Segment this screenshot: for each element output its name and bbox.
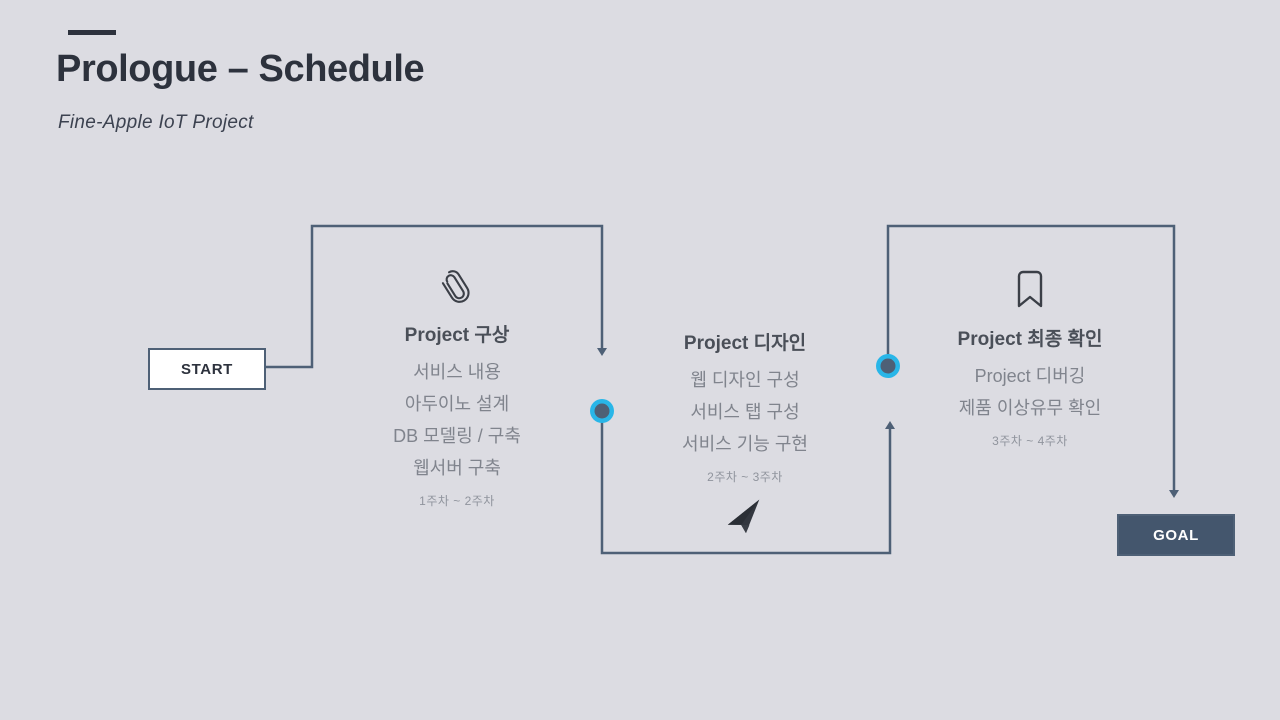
- stage-card-3[interactable]: Project 최종 확인 Project 디버깅 제품 이상유무 확인 3주차…: [900, 266, 1160, 449]
- goal-badge[interactable]: GOAL: [1117, 514, 1235, 556]
- stage-item: 서비스 내용: [327, 356, 587, 388]
- bookmark-icon: [900, 266, 1160, 312]
- stage-card-1[interactable]: Project 구상 서비스 내용 아두이노 설계 DB 모델링 / 구축 웹서…: [327, 262, 587, 509]
- stage-period: 3주차 ~ 4주차: [900, 432, 1160, 449]
- stage-title: Project 디자인: [615, 328, 875, 355]
- stage-item: 웹 디자인 구성: [615, 364, 875, 396]
- stage-card-2[interactable]: Project 디자인 웹 디자인 구성 서비스 탭 구성 서비스 기능 구현 …: [615, 328, 875, 539]
- milestone-dot-1: [590, 399, 614, 423]
- stage-title: Project 구상: [327, 320, 587, 347]
- stage-item: DB 모델링 / 구축: [327, 420, 587, 452]
- stage-title: Project 최종 확인: [900, 324, 1160, 351]
- stage-item: 아두이노 설계: [327, 388, 587, 420]
- stage-item: 제품 이상유무 확인: [900, 392, 1160, 424]
- start-badge-label: START: [181, 361, 233, 378]
- paper-plane-icon: [615, 499, 875, 539]
- stage-item: 웹서버 구축: [327, 452, 587, 484]
- goal-badge-label: GOAL: [1153, 527, 1199, 544]
- start-badge[interactable]: START: [148, 348, 266, 390]
- stage-period: 2주차 ~ 3주차: [615, 468, 875, 485]
- stage-item: 서비스 탭 구성: [615, 396, 875, 428]
- stage-item: Project 디버깅: [900, 360, 1160, 392]
- milestone-dot-2: [876, 354, 900, 378]
- stage-item: 서비스 기능 구현: [615, 428, 875, 460]
- slide-canvas: Prologue – Schedule Fine-Apple IoT Proje…: [0, 0, 1280, 720]
- stage-period: 1주차 ~ 2주차: [327, 492, 587, 509]
- paperclip-icon: [327, 262, 587, 308]
